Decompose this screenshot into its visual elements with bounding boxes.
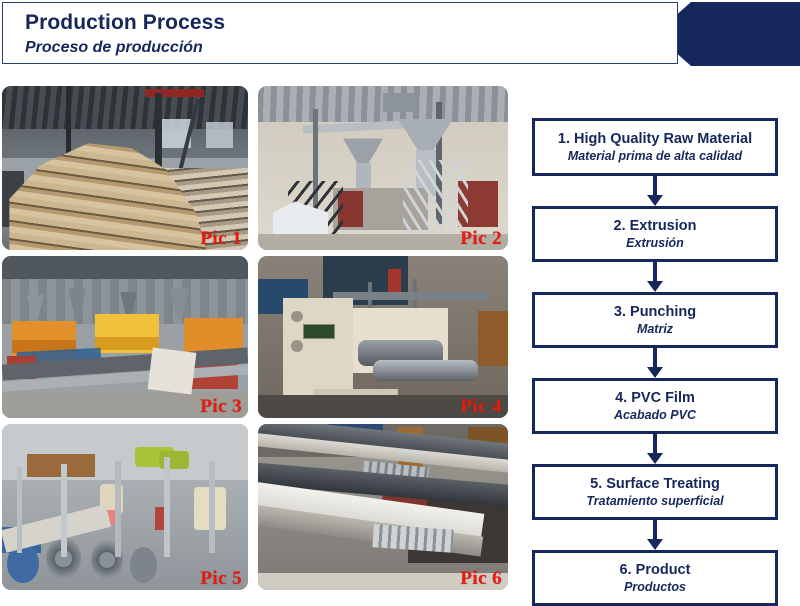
photo-pic-5-image [2,424,248,590]
flow-step-5-label-en: 5. Surface Treating [590,475,720,493]
photo-pic-1-image [2,86,248,250]
flow-step-5[interactable]: 5. Surface Treating Tratamiento superfic… [532,464,778,520]
photo-pic-5-label: Pic 5 [200,568,242,590]
flow-step-1[interactable]: 1. High Quality Raw Material Material pr… [532,118,778,176]
photo-pic-3[interactable]: Pic 3 [2,256,248,418]
photo-pic-3-label: Pic 3 [200,396,242,418]
photo-pic-3-image [2,256,248,418]
arrow-down-icon-1 [651,176,659,206]
flow-step-4[interactable]: 4. PVC Film Acabado PVC [532,378,778,434]
flow-step-6[interactable]: 6. Product Productos [532,550,778,606]
page-subtitle: Proceso de producción [25,37,225,59]
header-text: Production Process Proceso de producción [25,9,225,59]
flow-step-4-label-es: Acabado PVC [614,407,696,423]
photo-pic-1-label: Pic 1 [200,228,242,250]
arrow-down-icon-5 [651,520,659,550]
flow-step-3-label-en: 3. Punching [614,303,696,321]
flow-step-6-label-en: 6. Product [620,561,691,579]
flow-step-1-label-en: 1. High Quality Raw Material [558,130,752,148]
flow-step-2-label-es: Extrusión [626,235,684,251]
flow-step-3-label-es: Matriz [637,321,673,337]
photo-pic-1[interactable]: Pic 1 [2,86,248,250]
header-title-box: Production Process Proceso de producción [2,2,678,64]
flow-step-3[interactable]: 3. Punching Matriz [532,292,778,348]
photo-pic-6-label: Pic 6 [460,568,502,590]
photo-pic-4-label: Pic 4 [460,396,502,418]
arrow-down-icon-3 [651,348,659,378]
arrow-down-icon-4 [651,434,659,464]
photo-pic-2-image [258,86,508,250]
photo-pic-2[interactable]: Pic 2 [258,86,508,250]
photo-pic-5[interactable]: Pic 5 [2,424,248,590]
flow-step-2-label-en: 2. Extrusion [614,217,697,235]
flow-step-4-label-en: 4. PVC Film [615,389,695,407]
flow-step-5-label-es: Tratamiento superficial [586,493,723,509]
photo-pic-4-image [258,256,508,418]
flow-step-2[interactable]: 2. Extrusion Extrusión [532,206,778,262]
flow-step-1-label-es: Material prima de alta calidad [568,148,742,164]
arrow-down-icon-2 [651,262,659,292]
header-banner: Production Process Proceso de producción [0,0,800,68]
photo-pic-6-image [258,424,508,590]
photo-pic-6[interactable]: Pic 6 [258,424,508,590]
photo-pic-4[interactable]: Pic 4 [258,256,508,418]
photo-pic-2-label: Pic 2 [460,228,502,250]
page-title: Production Process [25,9,225,37]
